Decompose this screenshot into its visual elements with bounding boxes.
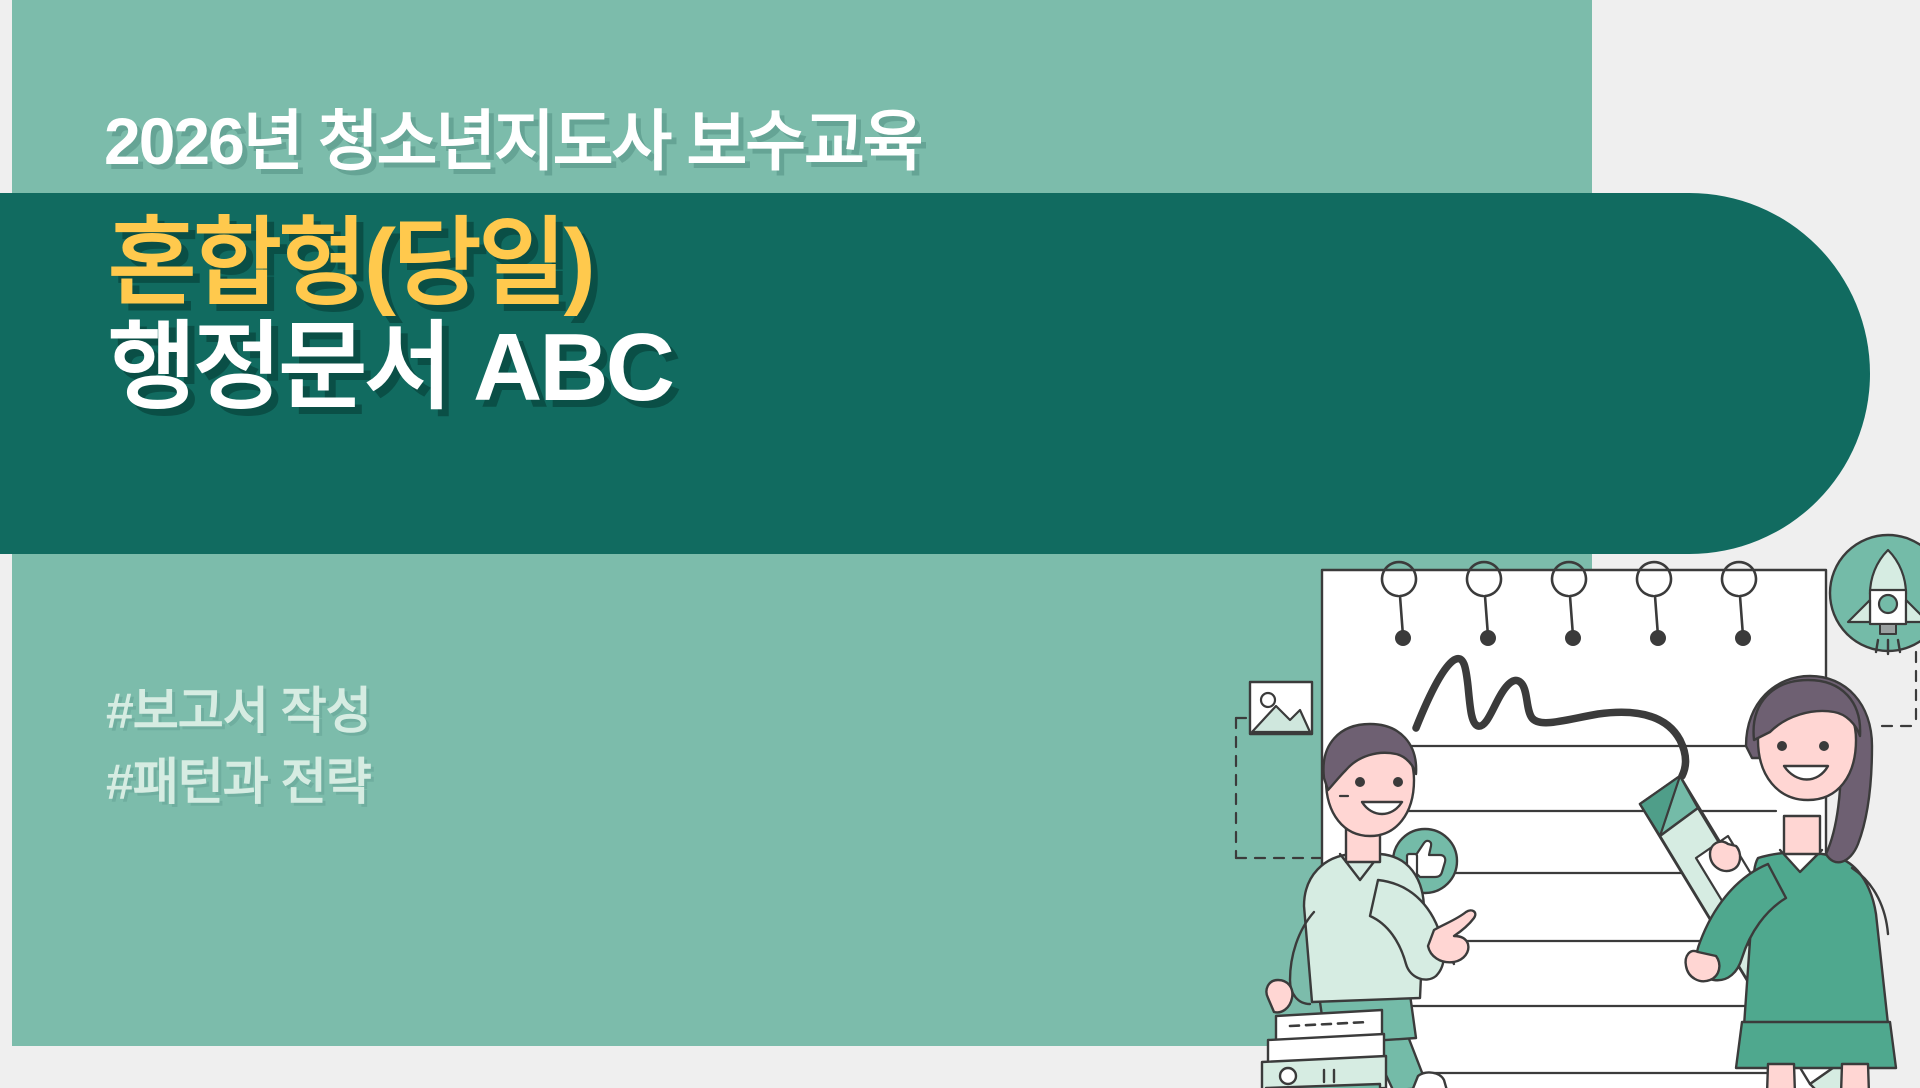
document-writing-illustration	[1228, 528, 1920, 1088]
hashtag-item-1: #보고서 작성	[106, 676, 371, 747]
photo-image-icon	[1250, 682, 1312, 734]
headline-line-2: 행정문서 ABC	[108, 316, 672, 420]
rocket-badge-icon	[1830, 535, 1920, 654]
eyebrow-title: 2026년 청소년지도사 보수교육	[104, 88, 921, 184]
slide-root: 2026년 청소년지도사 보수교육 혼합형(당일) 행정문서 ABC #보고서 …	[0, 0, 1920, 1080]
hashtag-group: #보고서 작성 #패턴과 전략	[106, 676, 371, 818]
stack-of-books	[1262, 1010, 1386, 1088]
hashtag-item-2: #패턴과 전략	[106, 747, 371, 818]
headline-group: 혼합형(당일) 행정문서 ABC	[108, 212, 672, 419]
headline-line-1: 혼합형(당일)	[108, 212, 672, 316]
